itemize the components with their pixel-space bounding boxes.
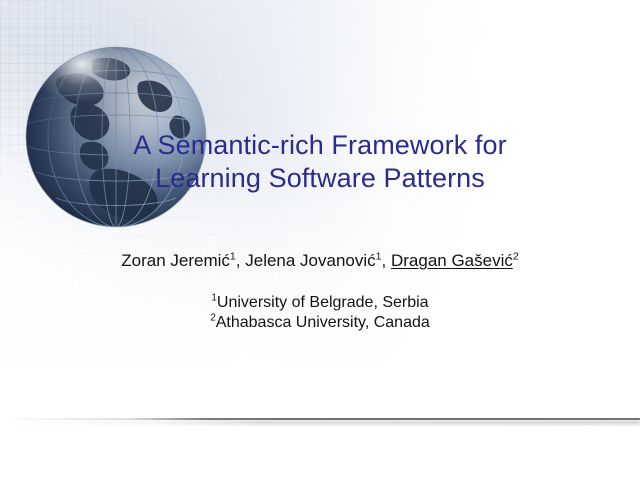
author-1: Zoran Jeremić1 — [121, 251, 236, 270]
author-2-affiliation-marker: 1 — [376, 250, 382, 262]
author-list: Zoran Jeremić1, Jelena Jovanović1, Draga… — [40, 250, 600, 272]
title-slide: A Semantic-rich Framework for Learning S… — [0, 0, 640, 480]
affiliation-2: 2Athabasca University, Canada — [40, 313, 600, 333]
page-title: A Semantic-rich Framework for Learning S… — [60, 129, 580, 195]
divider-shadow — [0, 420, 640, 425]
title-line-2: Learning Software Patterns — [60, 162, 580, 195]
affiliation-2-marker: 2 — [210, 313, 216, 324]
affiliation-list: 1University of Belgrade, Serbia 2Athabas… — [40, 293, 600, 333]
affiliation-1: 1University of Belgrade, Serbia — [40, 293, 600, 313]
affiliation-1-marker: 1 — [211, 293, 217, 304]
author-2: Jelena Jovanović1 — [245, 251, 381, 270]
title-line-1: A Semantic-rich Framework for — [60, 129, 580, 162]
author-3: Dragan Gašević — [391, 251, 513, 270]
footer-divider-rule — [0, 418, 640, 425]
author-1-affiliation-marker: 1 — [230, 250, 236, 262]
author-3-affiliation-marker: 2 — [513, 250, 519, 262]
